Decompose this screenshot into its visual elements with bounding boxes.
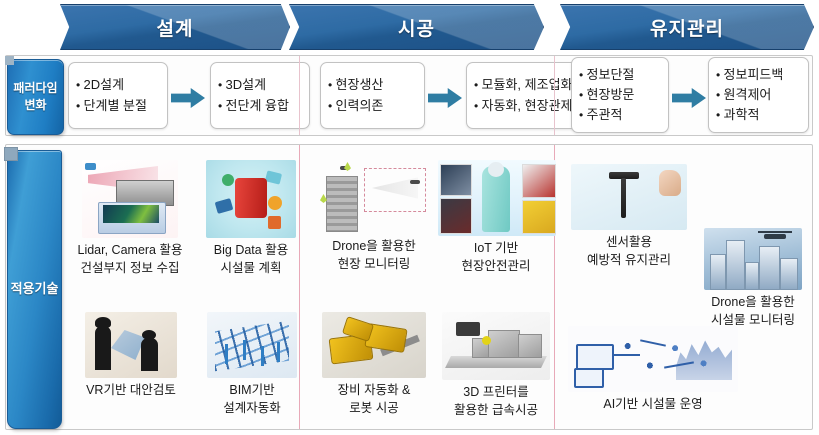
tech-tile-drone-city[interactable]: Drone을 활용한 시설물 모니터링 [697, 228, 809, 329]
paradigm-item: 모듈화, 제조업화 [474, 75, 584, 95]
paradigm-item: 주관적 [579, 105, 661, 125]
phase-banner-construction-label: 시공 [398, 14, 435, 41]
column-divider-top-1 [299, 56, 300, 135]
phase-banner-maintenance-label: 유지관리 [650, 14, 724, 41]
tech-tile-3dprint[interactable]: 3D 프린터를 활용한 급속시공 [437, 312, 555, 419]
sidebar-label-paradigm-line2: 변화 [24, 97, 46, 114]
bim-model-icon [207, 312, 297, 378]
tech-tile-caption: VR기반 대안검토 [72, 381, 190, 399]
paradigm-item: 과학적 [716, 105, 801, 125]
tech-tile-lidar[interactable]: Lidar, Camera 활용 건설부지 정보 수집 [70, 160, 190, 277]
diagram-root: 설계 시공 유지관리 패러다임 변화 2D설계 단계별 분절 3D설계 전단계 … [0, 0, 819, 435]
paradigm-item: 인력의존 [328, 96, 417, 116]
paradigm-item: 정보단절 [579, 65, 661, 85]
paradigm-item: 원격제어 [716, 85, 801, 105]
tech-tile-bim[interactable]: BIM기반 설계자동화 [198, 312, 306, 417]
paradigm-item: 전단계 융합 [218, 96, 302, 116]
tech-tile-caption: Lidar, Camera 활용 건설부지 정보 수집 [70, 241, 190, 277]
sensor-maintenance-icon [571, 164, 687, 230]
paradigm-maintenance-before: 정보단절 현장방문 주관적 [571, 57, 669, 133]
tech-tile-caption: IoT 기반 현장안전관리 [438, 239, 554, 275]
tech-tile-caption: 3D 프린터를 활용한 급속시공 [437, 383, 555, 419]
robot-equipment-icon [322, 312, 426, 378]
sidebar-label-technology: 적용기술 [7, 150, 62, 429]
phase-banner-design-label: 설계 [157, 14, 194, 41]
tech-tile-caption: Drone을 활용한 시설물 모니터링 [697, 293, 809, 329]
tech-tile-sensor[interactable]: 센서활용 예방적 유지관리 [565, 164, 693, 269]
tech-tile-caption: Big Data 활용 시설물 계획 [196, 241, 306, 277]
phase-banner-row: 설계 시공 유지관리 [0, 4, 819, 48]
tech-tile-robot[interactable]: 장비 자동화 & 로봇 시공 [315, 312, 433, 417]
paradigm-item: 2D설계 [76, 75, 160, 95]
tech-tile-caption: BIM기반 설계자동화 [198, 381, 306, 417]
paradigm-maintenance-after: 정보피드백 원격제어 과학적 [708, 57, 809, 133]
paradigm-item: 단계별 분절 [76, 96, 160, 116]
paradigm-design-after: 3D설계 전단계 융합 [210, 62, 310, 129]
column-divider-top-2 [554, 56, 555, 135]
phase-banner-maintenance[interactable]: 유지관리 [560, 4, 814, 50]
paradigm-construction-before: 현장생산 인력의존 [320, 62, 425, 129]
iot-safety-icon [438, 160, 556, 236]
tech-tile-iot[interactable]: IoT 기반 현장안전관리 [438, 160, 554, 275]
paradigm-design-before: 2D설계 단계별 분절 [68, 62, 168, 129]
paradigm-item: 자동화, 현장관제 [474, 96, 584, 116]
tech-tile-caption: 센서활용 예방적 유지관리 [565, 233, 693, 269]
paradigm-item: 현장생산 [328, 75, 417, 95]
tech-tile-ai[interactable]: AI기반 시설물 운영 [563, 326, 743, 413]
paradigm-item: 3D설계 [218, 75, 302, 95]
sidebar-label-technology-text: 적용기술 [11, 280, 59, 299]
phase-banner-design[interactable]: 설계 [60, 4, 290, 50]
big-data-icon [206, 160, 296, 238]
lidar-scan-icon [82, 160, 178, 238]
drone-city-icon [704, 228, 802, 290]
tech-tile-bigdata[interactable]: Big Data 활용 시설물 계획 [196, 160, 306, 277]
3d-printing-icon [442, 312, 550, 380]
drone-monitoring-icon [314, 160, 434, 234]
paradigm-item: 정보피드백 [716, 65, 801, 85]
tech-tile-caption: Drone을 활용한 현장 모니터링 [310, 237, 438, 273]
tech-tile-vr[interactable]: VR기반 대안검토 [72, 312, 190, 399]
phase-banner-construction[interactable]: 시공 [289, 4, 544, 50]
sidebar-label-paradigm: 패러다임 변화 [7, 59, 64, 135]
vr-review-icon [85, 312, 177, 378]
tech-tile-drone-site[interactable]: Drone을 활용한 현장 모니터링 [310, 160, 438, 273]
ai-network-icon [568, 326, 738, 392]
tech-tile-caption: AI기반 시설물 운영 [563, 395, 743, 413]
sidebar-label-paradigm-line1: 패러다임 [13, 80, 57, 97]
paradigm-item: 현장방문 [579, 85, 661, 105]
tech-tile-caption: 장비 자동화 & 로봇 시공 [315, 381, 433, 417]
